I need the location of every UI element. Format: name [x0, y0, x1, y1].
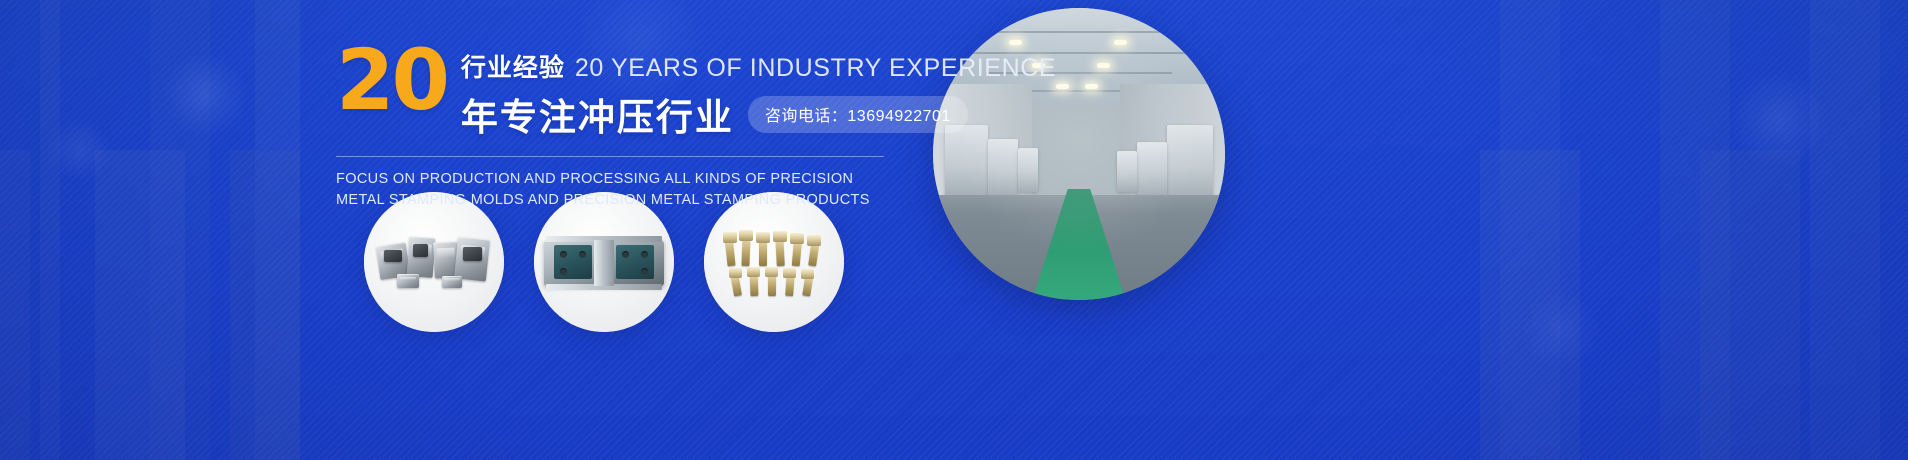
connector-part-9 [442, 276, 462, 288]
tagline-line: 行业经验 20 YEARS OF INDUSTRY EXPERIENCE [461, 48, 1056, 84]
product-photo-background [704, 192, 844, 332]
connector-part-3 [407, 236, 436, 278]
pin-2-head [739, 230, 753, 241]
headline-text-group: 行业经验 20 YEARS OF INDUSTRY EXPERIENCE 年专注… [461, 40, 1056, 141]
mold-hole-3 [622, 251, 629, 258]
pin-10-head [783, 268, 796, 278]
years-number: 20 [336, 46, 447, 115]
pin-8-head [747, 267, 760, 277]
phone-badge[interactable]: 咨询电话：13694922701 [748, 96, 968, 133]
pin-7-head [729, 268, 742, 278]
pin-4-head [773, 231, 787, 242]
mold-center-bar [594, 240, 614, 286]
pin-6-head [807, 235, 821, 246]
pin-3-head [756, 232, 770, 243]
promo-banner: 20 行业经验 20 YEARS OF INDUSTRY EXPERIENCE … [0, 0, 1908, 460]
mold-insert-right [616, 245, 654, 279]
headline-row: 20 行业经验 20 YEARS OF INDUSTRY EXPERIENCE … [336, 40, 896, 141]
connector-part-7 [463, 247, 482, 261]
banner-copy: 20 行业经验 20 YEARS OF INDUSTRY EXPERIENCE … [336, 40, 896, 211]
mold-insert-left [554, 245, 592, 279]
product-circle-mold [534, 192, 674, 332]
connector-part-8 [397, 274, 419, 288]
connector-part-2 [384, 250, 402, 262]
mold-hole-5 [560, 268, 567, 275]
pin-5-head [790, 233, 804, 244]
product-circle-pins [704, 192, 844, 332]
headline-line: 年专注冲压行业 咨询电话：13694922701 [461, 87, 1056, 141]
description-text: FOCUS ON PRODUCTION AND PROCESSING ALL K… [336, 169, 896, 211]
pin-11-head [801, 269, 814, 279]
connector-part-4 [413, 244, 428, 257]
pin-1-head [723, 232, 737, 243]
pin-9-head [765, 267, 778, 277]
mold-hole-4 [641, 251, 648, 258]
mold-hole-1 [560, 251, 567, 258]
tagline-chinese: 行业经验 [461, 48, 565, 84]
tagline-english: 20 YEARS OF INDUSTRY EXPERIENCE [575, 54, 1056, 83]
headline-chinese: 年专注冲压行业 [461, 87, 734, 141]
mold-hole-6 [641, 268, 648, 275]
mold-hole-2 [579, 251, 586, 258]
divider [336, 156, 884, 157]
product-circle-connectors [364, 192, 504, 332]
